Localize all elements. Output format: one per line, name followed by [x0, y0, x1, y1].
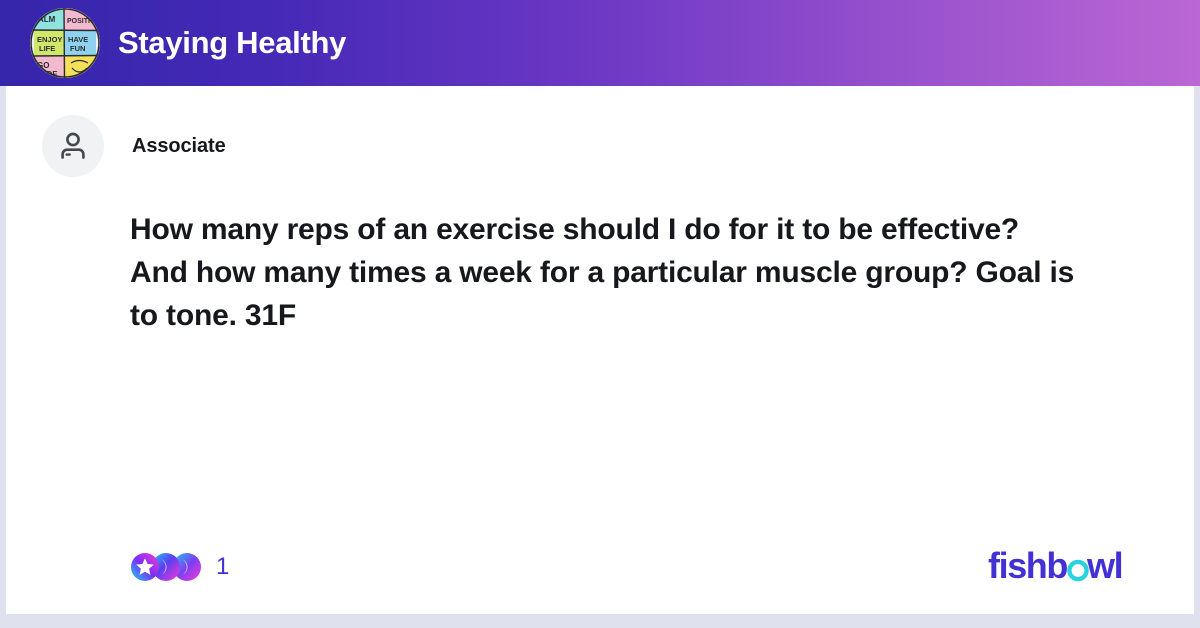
bowl-header: ALM POSITIV ENJOY LIFE HAVE FUN GO TSIDE… — [0, 0, 1200, 86]
post-body-line: And how many times a week for a particul… — [130, 251, 1170, 294]
post-card: Associate How many reps of an exercise s… — [6, 86, 1194, 614]
author-row: Associate — [42, 115, 226, 177]
author-name: Associate — [132, 135, 226, 158]
user-avatar-icon[interactable] — [42, 115, 104, 177]
svg-text:HAVE: HAVE — [68, 35, 88, 44]
svg-text:FUN: FUN — [70, 44, 85, 53]
post-footer: 1 fishb wl — [6, 518, 1194, 614]
svg-text:LIFE: LIFE — [39, 44, 55, 53]
fishbowl-logo[interactable]: fishb wl — [988, 548, 1130, 588]
star-reaction-icon[interactable] — [130, 552, 160, 582]
reaction-icon-stack[interactable] — [130, 552, 204, 582]
post-body-line: to tone. 31F — [130, 294, 1170, 337]
staying-healthy-bowl-logo[interactable]: ALM POSITIV ENJOY LIFE HAVE FUN GO TSIDE — [30, 8, 100, 78]
post-body: How many reps of an exercise should I do… — [130, 208, 1170, 337]
svg-text:ENJOY: ENJOY — [37, 35, 62, 44]
post-body-line: How many reps of an exercise should I do… — [130, 208, 1170, 251]
reaction-count: 1 — [216, 553, 229, 581]
reactions-group[interactable]: 1 — [130, 552, 229, 582]
post-card-page: ALM POSITIV ENJOY LIFE HAVE FUN GO TSIDE… — [0, 0, 1200, 628]
svg-text:wl: wl — [1086, 548, 1122, 586]
bottom-strip — [0, 614, 1200, 628]
svg-text:fishb: fishb — [988, 548, 1067, 586]
bowl-title: Staying Healthy — [118, 25, 346, 61]
